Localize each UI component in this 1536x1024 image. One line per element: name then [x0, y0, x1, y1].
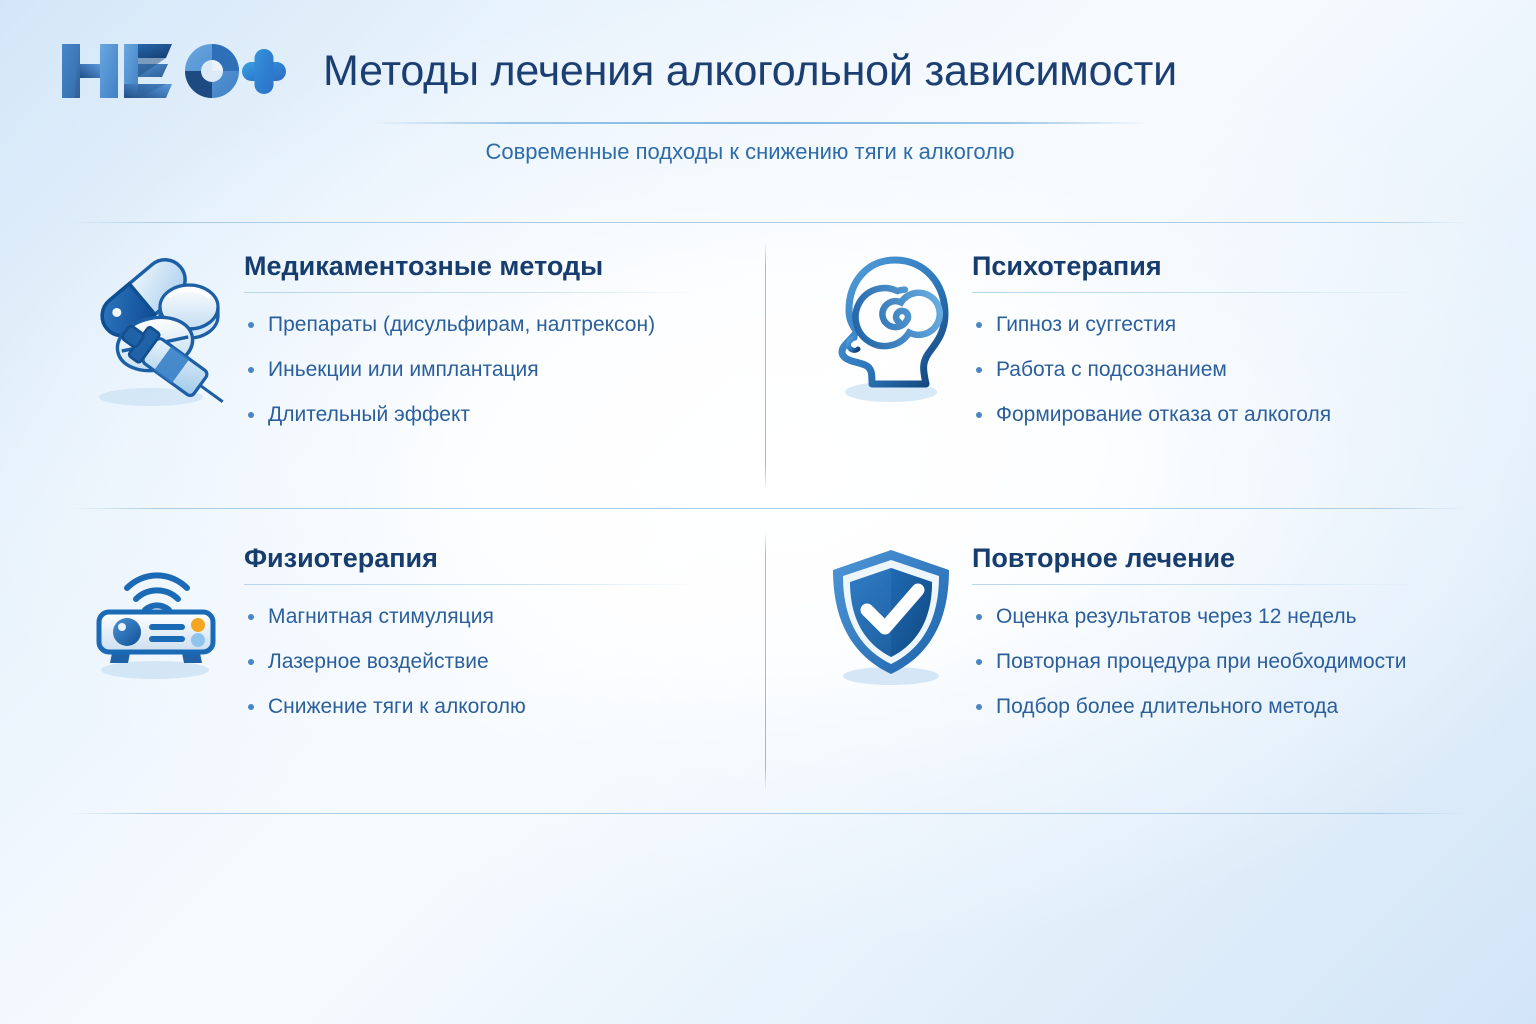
list-item: Повторная процедура при необходимости [972, 648, 1478, 675]
poster-subtitle: Современные подходы к снижению тяги к ал… [300, 136, 1200, 168]
infographic-poster: Методы лечения алкогольной зависимости С… [0, 0, 1536, 1024]
divider-top [70, 222, 1466, 223]
list-item: Снижение тяги к алкоголю [244, 693, 738, 720]
card-icon-wrap [78, 248, 238, 412]
card-title: Медикаментозные методы [244, 248, 738, 284]
physio-device-icon [83, 544, 233, 684]
poster-title: Методы лечения алкогольной зависимости [300, 42, 1200, 100]
card-title: Психотерапия [972, 248, 1478, 284]
card-title-underline [244, 584, 699, 585]
list-item: Лазерное воздействие [244, 648, 738, 675]
list-item: Длительный эффект [244, 401, 738, 428]
card-medication: Медикаментозные методы Препараты (дисуль… [78, 248, 738, 428]
divider-bottom [70, 813, 1466, 814]
divider-middle [70, 508, 1466, 509]
card-body: Медикаментозные методы Препараты (дисуль… [238, 248, 738, 428]
card-psychotherapy: Психотерапия Гипноз и суггестия Работа с… [818, 248, 1478, 428]
list-item: Работа с подсознанием [972, 356, 1478, 383]
title-divider [370, 122, 1150, 124]
card-bullet-list: Препараты (дисульфирам, налтрексон) Инье… [244, 311, 738, 428]
card-icon-wrap [818, 540, 966, 694]
card-body: Физиотерапия Магнитная стимуляция Лазерн… [238, 540, 738, 720]
divider-vertical-bottom [765, 530, 766, 792]
card-title-underline [244, 292, 699, 293]
pills-syringe-icon [83, 252, 233, 412]
card-bullet-list: Оценка результатов через 12 недель Повто… [972, 603, 1478, 720]
card-title: Физиотерапия [244, 540, 738, 576]
shield-check-icon [825, 544, 960, 694]
card-title: Повторное лечение [972, 540, 1478, 576]
brand-logo [56, 38, 286, 104]
card-icon-wrap [818, 248, 966, 412]
divider-vertical-top [765, 242, 766, 490]
card-body: Повторное лечение Оценка результатов чер… [966, 540, 1478, 720]
card-repeat-treatment: Повторное лечение Оценка результатов чер… [818, 540, 1478, 720]
card-icon-wrap [78, 540, 238, 684]
head-spiral-icon [825, 252, 960, 412]
brand-logo-icon [56, 38, 286, 104]
card-body: Психотерапия Гипноз и суггестия Работа с… [966, 248, 1478, 428]
poster-header: Методы лечения алкогольной зависимости С… [0, 0, 1536, 200]
list-item: Подбор более длительного метода [972, 693, 1478, 720]
list-item: Магнитная стимуляция [244, 603, 738, 630]
card-bullet-list: Магнитная стимуляция Лазерное воздействи… [244, 603, 738, 720]
list-item: Препараты (дисульфирам, налтрексон) [244, 311, 738, 338]
list-item: Формирование отказа от алкоголя [972, 401, 1478, 428]
list-item: Иньекции или имплантация [244, 356, 738, 383]
card-physiotherapy: Физиотерапия Магнитная стимуляция Лазерн… [78, 540, 738, 720]
list-item: Оценка результатов через 12 недель [972, 603, 1478, 630]
card-bullet-list: Гипноз и суггестия Работа с подсознанием… [972, 311, 1478, 428]
list-item: Гипноз и суггестия [972, 311, 1478, 338]
card-title-underline [972, 292, 1427, 293]
card-title-underline [972, 584, 1427, 585]
